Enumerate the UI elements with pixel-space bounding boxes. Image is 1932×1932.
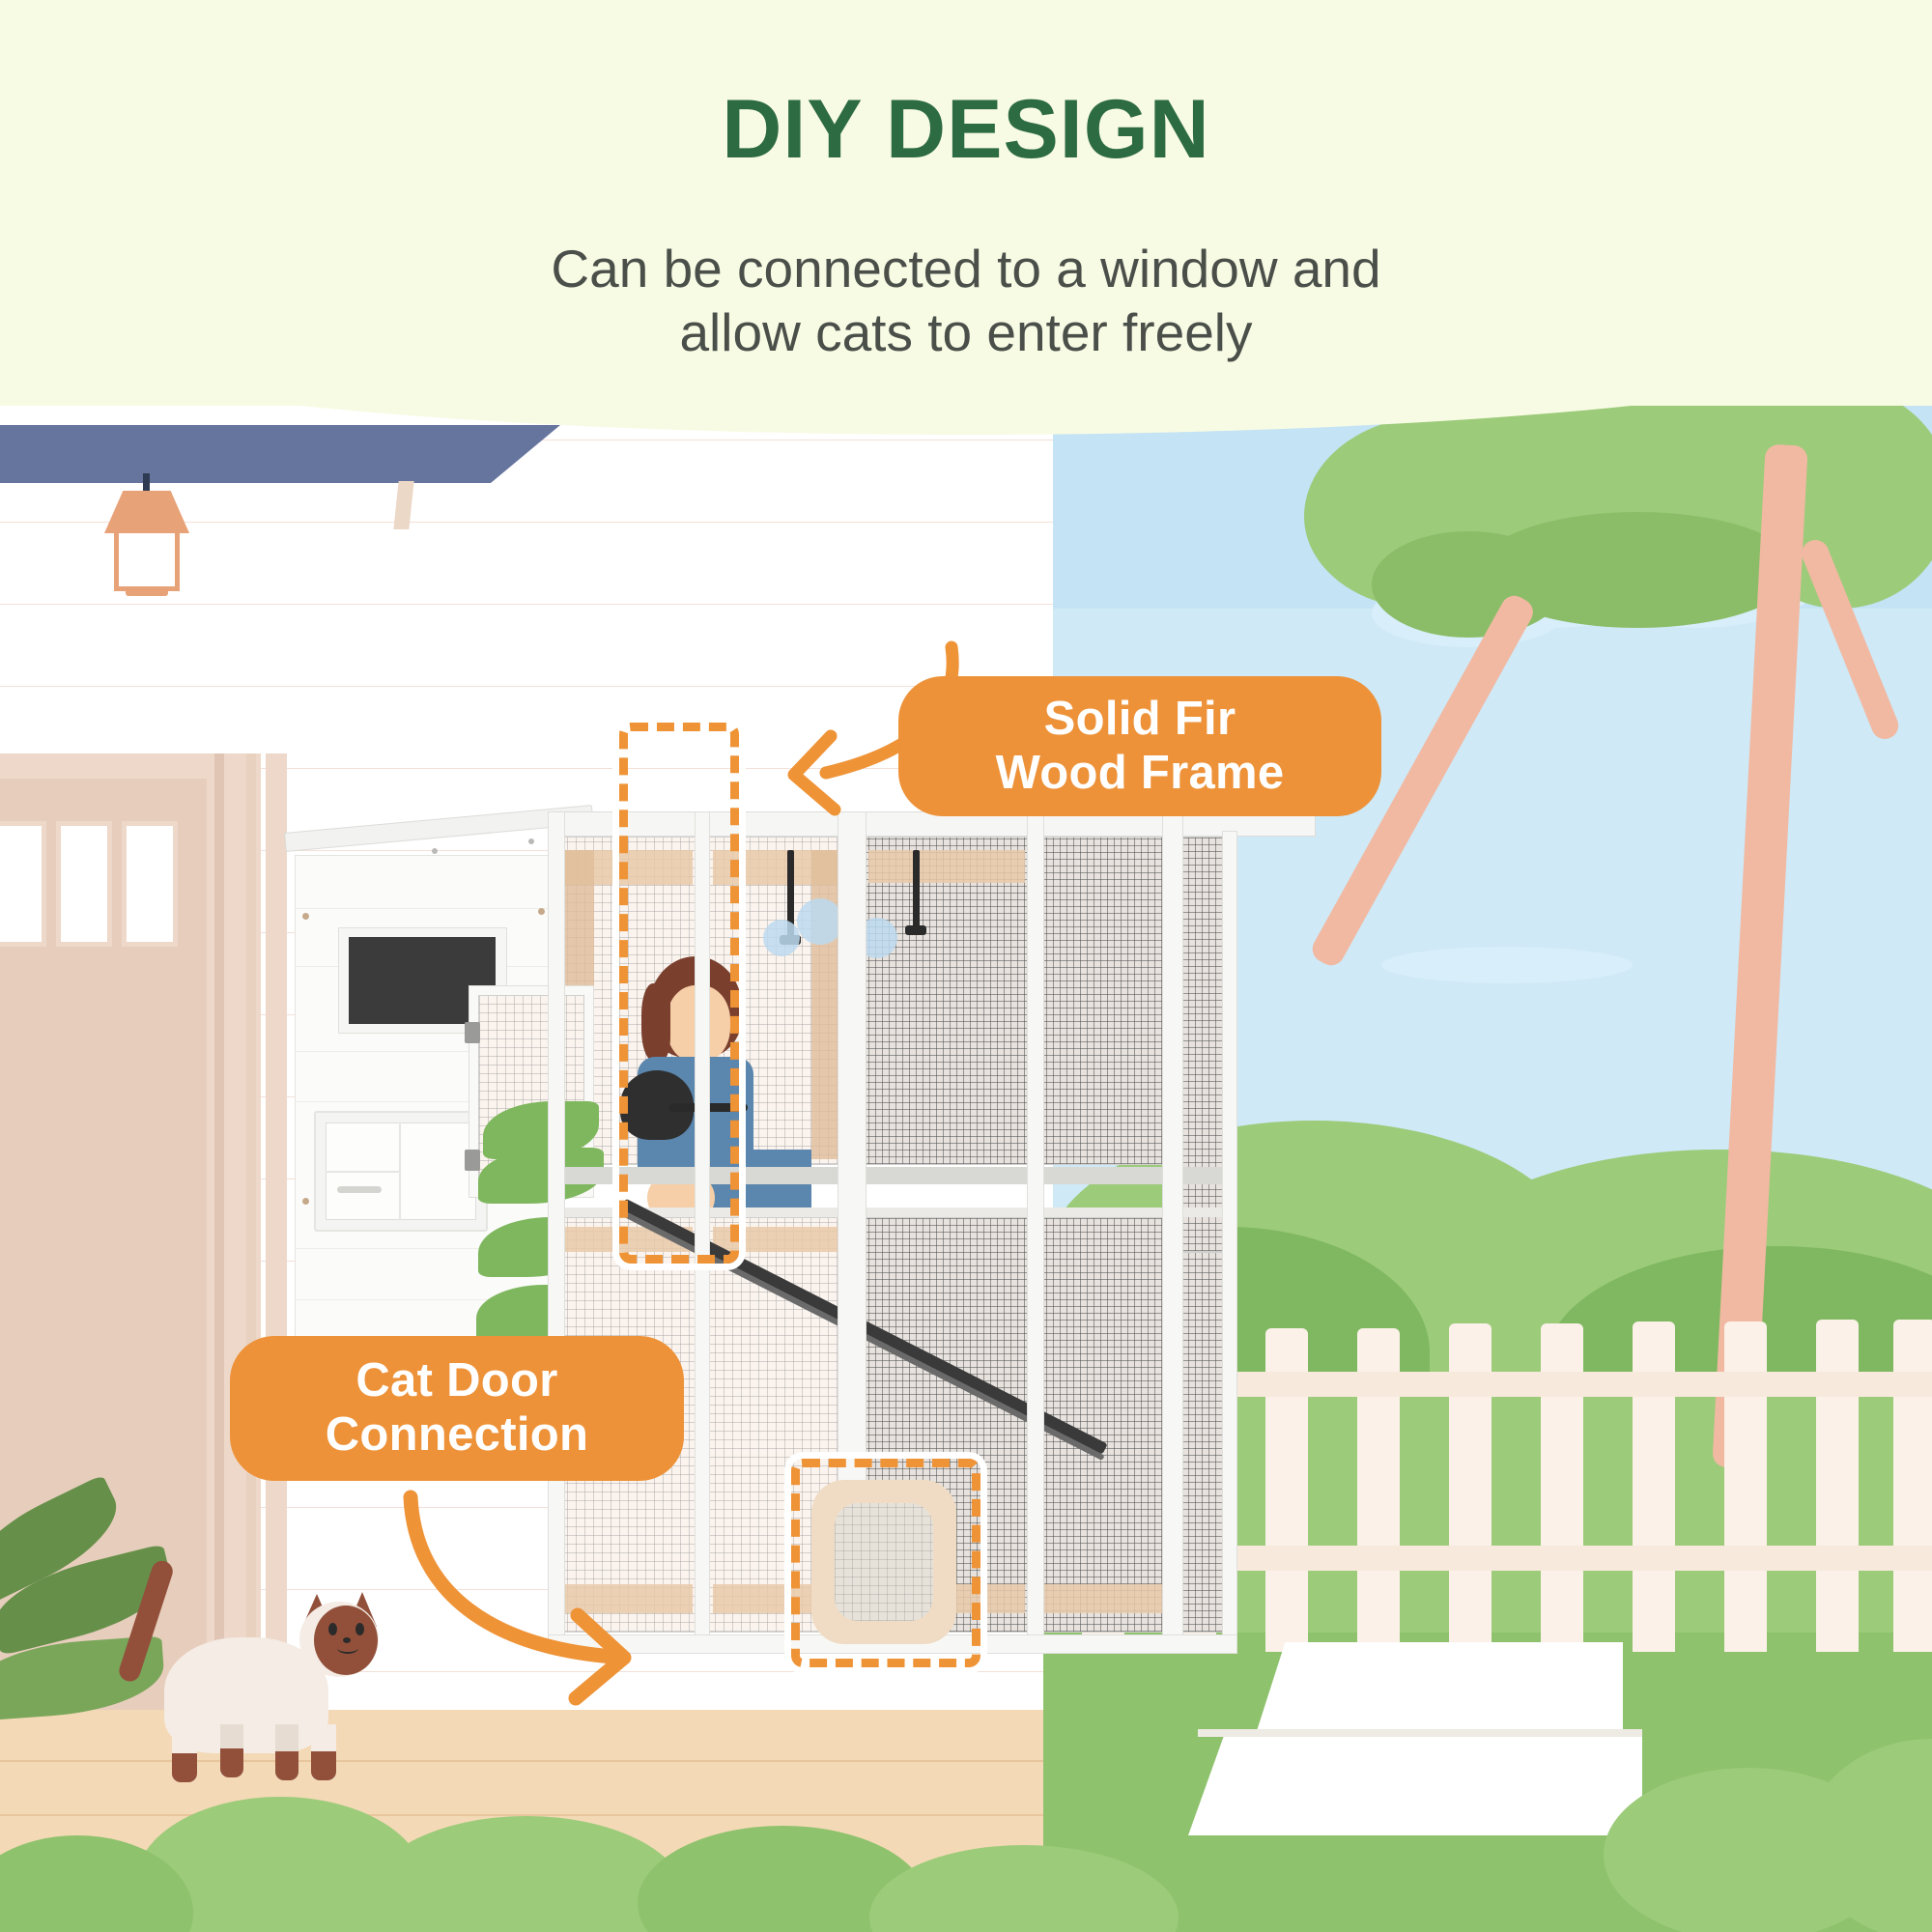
subtitle-line-1: Can be connected to a window and [0, 237, 1932, 300]
house-plank [295, 908, 555, 909]
house-screw [538, 908, 545, 915]
tree-foliage-shadow-2 [1372, 531, 1565, 638]
cat-paw [172, 1753, 197, 1782]
frame-wood-bar [868, 850, 1025, 883]
door-window-pane [122, 821, 178, 947]
flap-divider [326, 1171, 399, 1173]
door-hinge [465, 1150, 480, 1171]
cat-paw [220, 1748, 243, 1777]
flap-handle[interactable] [337, 1186, 382, 1193]
poster-canvas: Solid Fir Wood Frame Cat Door Connection [0, 0, 1932, 1932]
badge-line-2: Connection [326, 1408, 588, 1463]
frame-wood-bar-lower [1044, 1584, 1164, 1613]
house-screw [302, 1198, 309, 1205]
house-screw [302, 913, 309, 920]
door-window-pane [0, 821, 46, 947]
cat-eye-left [328, 1623, 337, 1635]
cage-pane-upper-3 [861, 837, 1033, 1165]
cage-post-4 [1027, 811, 1044, 1652]
cage-pane-upper-4 [1038, 837, 1169, 1165]
arrow-to-cat-door [377, 1468, 763, 1700]
lamp-body [114, 531, 180, 591]
flap-divider [399, 1122, 401, 1220]
cage-post-far-right [1222, 831, 1237, 1652]
cat-mouth [337, 1642, 358, 1654]
toy-weight [905, 925, 926, 935]
roof-screw [432, 848, 438, 854]
cat-paw [311, 1751, 336, 1780]
badge-solid-fir-wood-frame[interactable]: Solid Fir Wood Frame [898, 676, 1381, 816]
fence-picket [1816, 1320, 1859, 1652]
siamese-cat [58, 1546, 377, 1835]
wood-frame-highlight [619, 723, 739, 1264]
hanging-toy-rod [913, 850, 920, 927]
fence-picket [1893, 1320, 1932, 1652]
toy-ball [797, 898, 843, 945]
subtitle-line-2: allow cats to enter freely [0, 300, 1932, 364]
lamp-base [126, 587, 168, 596]
awning [0, 425, 560, 483]
cloud-4 [1381, 947, 1633, 983]
roof-screw [528, 838, 534, 844]
siding-line [0, 604, 1053, 605]
badge-line-2: Wood Frame [996, 747, 1285, 801]
page-subtitle: Can be connected to a window and allow c… [0, 237, 1932, 364]
cat-eye-right [355, 1623, 364, 1635]
page-title: DIY DESIGN [0, 82, 1932, 178]
badge-line-1: Cat Door [355, 1354, 557, 1408]
door-hinge [465, 1022, 480, 1043]
cat-door-highlight [791, 1459, 980, 1667]
door-window-pane [56, 821, 112, 947]
deck-step-shadow [1198, 1729, 1642, 1737]
badge-cat-door-connection[interactable]: Cat Door Connection [230, 1336, 684, 1481]
cat-tail [117, 1558, 176, 1684]
toy-ball [763, 920, 800, 956]
cage-post-right [1162, 811, 1183, 1652]
deck-step-lower [1188, 1734, 1642, 1835]
cat-paw [275, 1751, 298, 1780]
badge-line-1: Solid Fir [1044, 693, 1236, 747]
